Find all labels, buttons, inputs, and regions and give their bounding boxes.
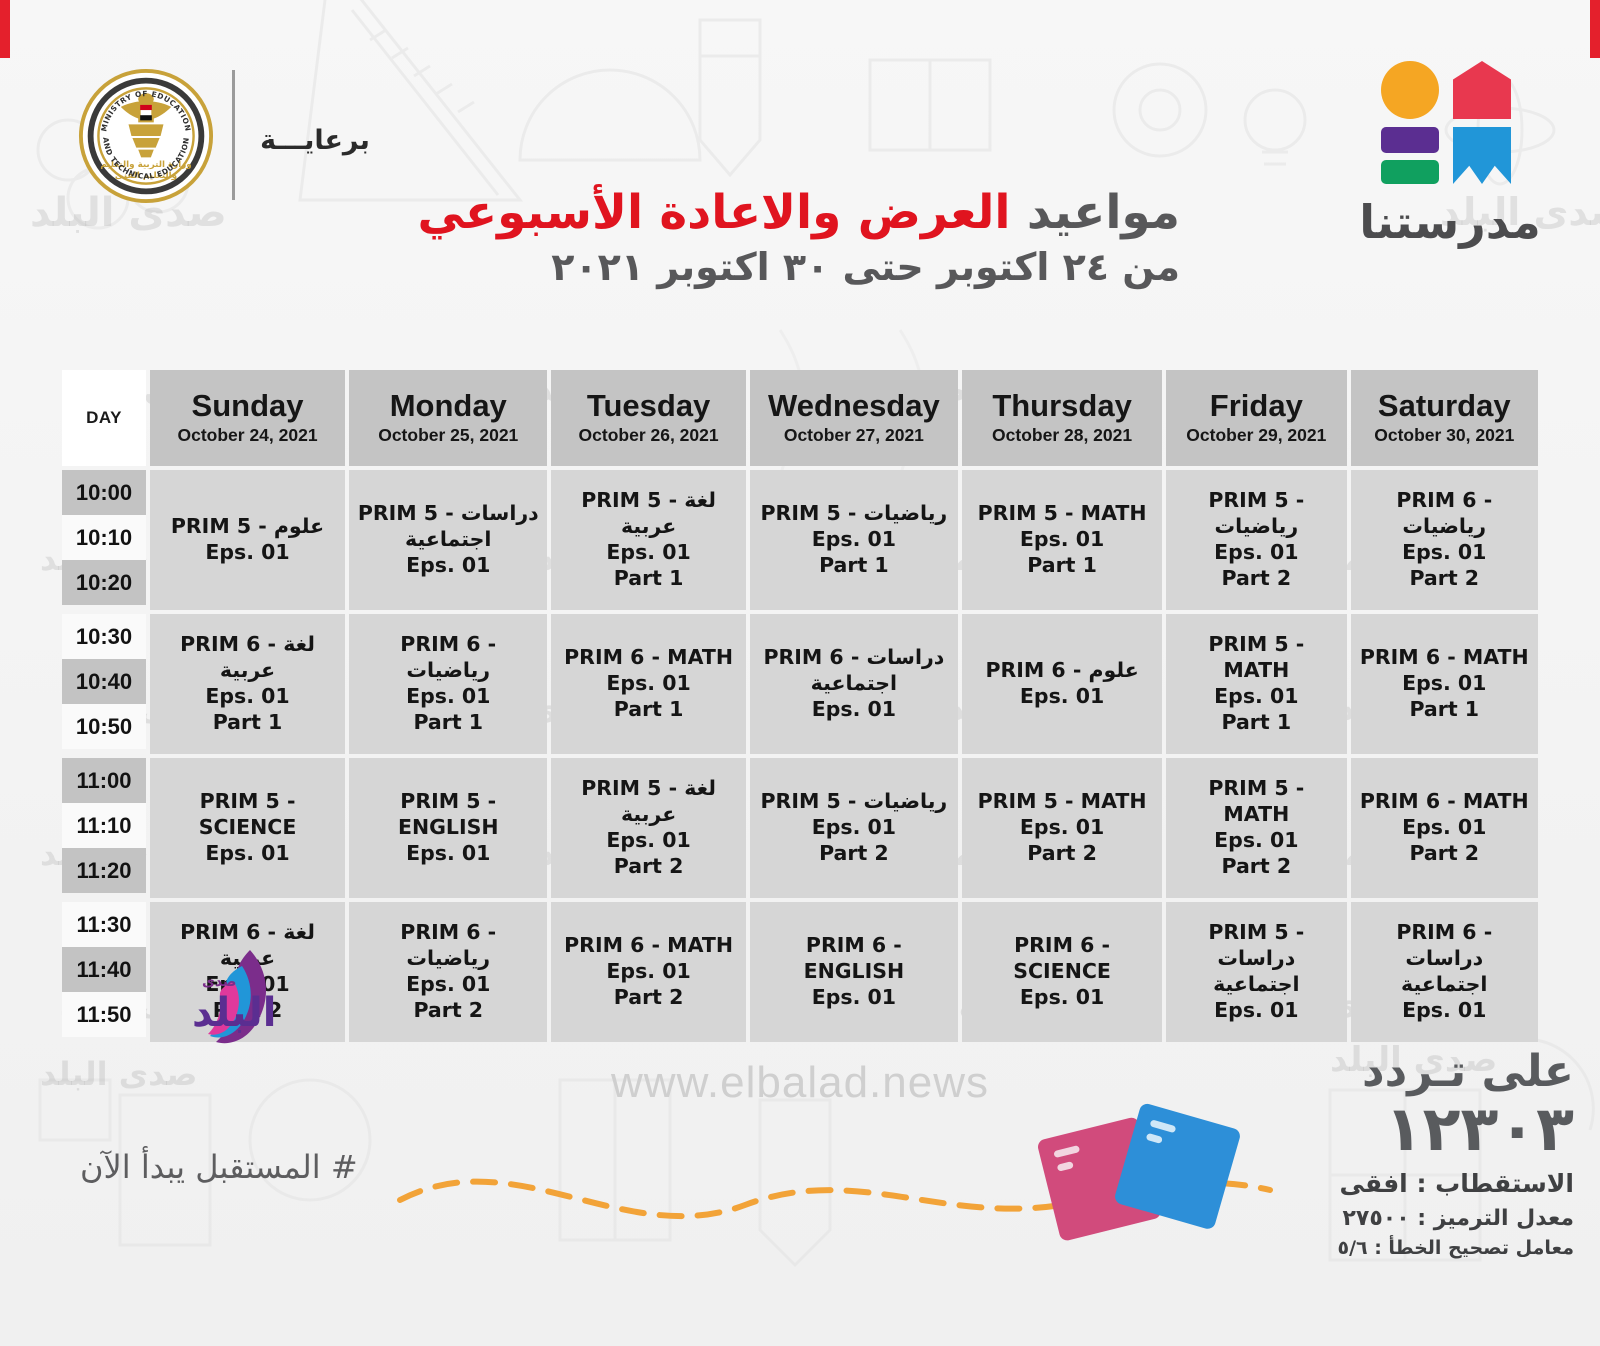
cell-line-part: Part 2 bbox=[1172, 566, 1340, 592]
cell-line-subject: PRIM 6 - MATH bbox=[1357, 645, 1532, 671]
cell-line-subject: PRIM 6 - علوم bbox=[968, 658, 1156, 684]
schedule-table-body: 10:00 10:10 10:20 PRIM 5 - علوم Eps. 01 … bbox=[62, 470, 1538, 1042]
cell-line-episode: Eps. 01 bbox=[156, 972, 339, 998]
schedule-cell[interactable]: PRIM 5 - SCIENCE Eps. 01 bbox=[150, 758, 345, 898]
cell-line-subject: PRIM 5 - ENGLISH bbox=[355, 789, 541, 841]
schedule-table-head: DAY Sunday October 24, 2021 Monday Octob… bbox=[62, 370, 1538, 466]
column-header-sunday: Sunday October 24, 2021 bbox=[150, 370, 345, 466]
frequency-fec: معامل تصحيح الخطأ : ٥/٦ bbox=[1234, 1237, 1574, 1259]
schedule-cell[interactable]: PRIM 6 - SCIENCE Eps. 01 bbox=[962, 902, 1162, 1042]
cell-line-episode: Eps. 01 bbox=[968, 527, 1156, 553]
cell-line-part: Part 2 bbox=[756, 841, 952, 867]
cell-line-episode: Eps. 01 bbox=[756, 985, 952, 1011]
cell-line-part: Part 2 bbox=[557, 985, 739, 1011]
column-day-date: October 29, 2021 bbox=[1168, 425, 1344, 446]
cell-line-subject: PRIM 6 - دراسات bbox=[756, 645, 952, 671]
cell-line-episode: اجتماعية bbox=[756, 671, 952, 697]
cell-line-part: Part 2 bbox=[1357, 841, 1532, 867]
schedule-cell[interactable]: PRIM 6 - MATH Eps. 01 Part 2 bbox=[551, 902, 745, 1042]
cell-line-episode: Eps. 01 bbox=[756, 815, 952, 841]
time-slot: 11:00 bbox=[62, 758, 146, 803]
cell-line-subject: PRIM 5 - لغة عربية bbox=[557, 776, 739, 828]
cell-line-part: Part 2 bbox=[557, 854, 739, 880]
column-day-name: Thursday bbox=[964, 390, 1160, 423]
day-header-label: DAY bbox=[62, 370, 146, 466]
cell-line-subject: PRIM 5 - دراسات bbox=[1172, 920, 1340, 972]
time-stack: 10:30 10:40 10:50 bbox=[62, 614, 146, 749]
table-row: 11:00 11:10 11:20 PRIM 5 - SCIENCE Eps. … bbox=[62, 758, 1538, 898]
cell-line-part: Eps. 01 bbox=[1357, 998, 1532, 1024]
title-block: مواعيد العرض والاعادة الأسبوعي من ٢٤ اكت… bbox=[420, 188, 1180, 289]
schedule-cell[interactable]: PRIM 5 - MATH Eps. 01 Part 1 bbox=[1166, 614, 1346, 754]
column-day-date: October 28, 2021 bbox=[964, 425, 1160, 446]
poster-header: وزارة التربية والتعليم والتعليم الفنى MI… bbox=[0, 0, 1600, 350]
cell-line-subject: PRIM 6 - MATH bbox=[557, 933, 739, 959]
cell-line-subject: PRIM 6 - لغة عربية bbox=[156, 920, 339, 972]
cell-line-episode: اجتماعية bbox=[1357, 972, 1532, 998]
column-day-date: October 30, 2021 bbox=[1353, 425, 1536, 446]
schedule-cell[interactable]: PRIM 5 - دراسات اجتماعية Eps. 01 bbox=[349, 470, 547, 610]
cell-line-subject: PRIM 6 - MATH bbox=[557, 645, 739, 671]
cell-line-episode: Eps. 01 bbox=[1357, 671, 1532, 697]
cell-line-subject: PRIM 5 - رياضيات bbox=[1172, 488, 1340, 540]
header-divider bbox=[232, 70, 235, 200]
cell-line-subject: PRIM 6 - رياضيات bbox=[355, 632, 541, 684]
cell-line-episode: Eps. 01 bbox=[156, 684, 339, 710]
time-slot: 10:00 bbox=[62, 470, 146, 515]
brand-name: مدرستنا bbox=[1325, 195, 1575, 249]
time-slot: 10:50 bbox=[62, 704, 146, 749]
schedule-cell[interactable]: PRIM 5 - MATH Eps. 01 Part 1 bbox=[962, 470, 1162, 610]
logo-green-bar-icon bbox=[1381, 160, 1439, 184]
logo-blue-book-icon bbox=[1453, 127, 1511, 184]
schedule-cell[interactable]: PRIM 5 - علوم Eps. 01 bbox=[150, 470, 345, 610]
column-day-date: October 26, 2021 bbox=[553, 425, 743, 446]
cell-line-part: Part 2 bbox=[355, 998, 541, 1024]
cell-line-episode: Eps. 01 bbox=[1172, 540, 1340, 566]
cell-line-subject: PRIM 6 - SCIENCE bbox=[968, 933, 1156, 985]
schedule-cell[interactable]: PRIM 5 - لغة عربية Eps. 01 Part 2 bbox=[551, 758, 745, 898]
logo-tiles bbox=[1367, 61, 1517, 171]
schedule-cell[interactable]: PRIM 6 - لغة عربية Eps. 01 Part 1 bbox=[150, 614, 345, 754]
column-day-name: Tuesday bbox=[553, 390, 743, 423]
column-day-date: October 27, 2021 bbox=[752, 425, 956, 446]
madrasatna-logo: مدرستنا bbox=[1325, 55, 1575, 255]
column-day-name: Friday bbox=[1168, 390, 1344, 423]
column-header-monday: Monday October 25, 2021 bbox=[349, 370, 547, 466]
column-header-wednesday: Wednesday October 27, 2021 bbox=[750, 370, 958, 466]
column-header-friday: Friday October 29, 2021 bbox=[1166, 370, 1346, 466]
frequency-symbol-rate: معدل الترميز : ٢٧٥٠٠ bbox=[1234, 1206, 1574, 1231]
cell-line-part: Part 1 bbox=[355, 710, 541, 736]
column-header-thursday: Thursday October 28, 2021 bbox=[962, 370, 1162, 466]
cell-line-episode: Eps. 01 bbox=[1357, 815, 1532, 841]
time-slot: 10:30 bbox=[62, 614, 146, 659]
cell-line-episode: Eps. 01 bbox=[156, 841, 339, 867]
schedule-cell[interactable]: PRIM 6 - رياضيات Eps. 01 Part 1 bbox=[349, 614, 547, 754]
table-header-row: DAY Sunday October 24, 2021 Monday Octob… bbox=[62, 370, 1538, 466]
cell-line-subject: PRIM 5 - رياضيات bbox=[756, 789, 952, 815]
time-column-cell: 11:00 11:10 11:20 bbox=[62, 758, 146, 898]
cell-line-part: Part 1 bbox=[968, 553, 1156, 579]
column-day-name: Saturday bbox=[1353, 390, 1536, 423]
cell-line-part: Part 2 bbox=[1172, 854, 1340, 880]
cell-line-subject: PRIM 6 - رياضيات bbox=[355, 920, 541, 972]
cell-line-part: Eps. 01 bbox=[355, 553, 541, 579]
cell-line-subject: PRIM 5 - MATH bbox=[1172, 776, 1340, 828]
schedule-cell[interactable]: PRIM 6 - دراسات اجتماعية Eps. 01 bbox=[1351, 902, 1538, 1042]
time-column-cell: 10:30 10:40 10:50 bbox=[62, 614, 146, 754]
time-column-cell: 11:30 11:40 11:50 bbox=[62, 902, 146, 1042]
cell-line-part: Part 2 bbox=[156, 998, 339, 1024]
cell-line-part: Part 2 bbox=[968, 841, 1156, 867]
cell-line-episode: Eps. 01 bbox=[557, 828, 739, 854]
schedule-cell[interactable]: PRIM 6 - MATH Eps. 01 Part 1 bbox=[551, 614, 745, 754]
hashtag-slogan: # المستقبل يبدأ الآن bbox=[80, 1148, 358, 1186]
schedule-cell[interactable]: PRIM 6 - رياضيات Eps. 01 Part 2 bbox=[1351, 470, 1538, 610]
frequency-number: ١٢٣٠٣ bbox=[1234, 1096, 1574, 1163]
cell-line-episode: Eps. 01 bbox=[557, 671, 739, 697]
cell-line-subject: PRIM 5 - SCIENCE bbox=[156, 789, 339, 841]
cell-line-episode: Eps. 01 bbox=[1172, 684, 1340, 710]
cell-line-subject: PRIM 5 - دراسات bbox=[355, 501, 541, 527]
frequency-polarization: الاستقطاب : افقى bbox=[1234, 1169, 1574, 1198]
time-slot: 10:20 bbox=[62, 560, 146, 605]
table-row: 10:00 10:10 10:20 PRIM 5 - علوم Eps. 01 … bbox=[62, 470, 1538, 610]
cell-line-subject: PRIM 5 - MATH bbox=[968, 789, 1156, 815]
books-illustration bbox=[1025, 1070, 1245, 1260]
schedule-cell[interactable]: PRIM 6 - علوم Eps. 01 bbox=[962, 614, 1162, 754]
cell-line-episode: Eps. 01 bbox=[968, 985, 1156, 1011]
cell-line-episode: اجتماعية bbox=[1172, 972, 1340, 998]
cell-line-subject: PRIM 5 - لغة عربية bbox=[557, 488, 739, 540]
column-day-name: Monday bbox=[351, 390, 545, 423]
cell-line-episode: Eps. 01 bbox=[557, 540, 739, 566]
poster-root: صدى البلد صدى البلد صدى البلد صدى البلد … bbox=[0, 0, 1600, 1346]
column-header-saturday: Saturday October 30, 2021 bbox=[1351, 370, 1538, 466]
cell-line-part: Part 1 bbox=[1357, 697, 1532, 723]
time-slot: 10:40 bbox=[62, 659, 146, 704]
time-stack: 11:00 11:10 11:20 bbox=[62, 758, 146, 893]
schedule-cell[interactable]: PRIM 6 - لغة عربية Eps. 01 Part 2 bbox=[150, 902, 345, 1042]
column-day-name: Sunday bbox=[152, 390, 343, 423]
page-title-red: العرض والاعادة الأسبوعي bbox=[417, 185, 1010, 240]
schedule-table: DAY Sunday October 24, 2021 Monday Octob… bbox=[58, 366, 1542, 1046]
cell-line-subject: PRIM 5 - علوم bbox=[156, 514, 339, 540]
column-day-name: Wednesday bbox=[752, 390, 956, 423]
cell-line-episode: اجتماعية bbox=[355, 527, 541, 553]
column-day-date: October 25, 2021 bbox=[351, 425, 545, 446]
cell-line-episode: Eps. 01 bbox=[156, 540, 339, 566]
cell-line-episode: Eps. 01 bbox=[355, 972, 541, 998]
cell-line-subject: PRIM 5 - MATH bbox=[1172, 632, 1340, 684]
frequency-label: على تـردد bbox=[1234, 1050, 1574, 1094]
schedule-cell[interactable]: PRIM 5 - دراسات اجتماعية Eps. 01 bbox=[1166, 902, 1346, 1042]
schedule-cell[interactable]: PRIM 5 - MATH Eps. 01 Part 2 bbox=[1166, 758, 1346, 898]
cell-line-part: Eps. 01 bbox=[756, 697, 952, 723]
cell-line-subject: PRIM 6 - ENGLISH bbox=[756, 933, 952, 985]
logo-house-icon bbox=[1453, 61, 1511, 119]
time-stack: 11:30 11:40 11:50 bbox=[62, 902, 146, 1037]
column-day-date: October 24, 2021 bbox=[152, 425, 343, 446]
cell-line-episode: Eps. 01 bbox=[756, 527, 952, 553]
logo-circle-icon bbox=[1381, 61, 1439, 119]
time-slot: 11:50 bbox=[62, 992, 146, 1037]
schedule-cell[interactable]: PRIM 5 - لغة عربية Eps. 01 Part 1 bbox=[551, 470, 745, 610]
page-title: مواعيد العرض والاعادة الأسبوعي bbox=[420, 188, 1180, 239]
table-row: 10:30 10:40 10:50 PRIM 6 - لغة عربية Eps… bbox=[62, 614, 1538, 754]
schedule-cell[interactable]: PRIM 6 - MATH Eps. 01 Part 2 bbox=[1351, 758, 1538, 898]
cell-line-subject: PRIM 5 - رياضيات bbox=[756, 501, 952, 527]
cell-line-part: Part 1 bbox=[156, 710, 339, 736]
table-row: 11:30 11:40 11:50 PRIM 6 - لغة عربية Eps… bbox=[62, 902, 1538, 1042]
cell-line-episode: Eps. 01 bbox=[557, 959, 739, 985]
time-slot: 11:20 bbox=[62, 848, 146, 893]
schedule-cell[interactable]: PRIM 6 - ENGLISH Eps. 01 bbox=[750, 902, 958, 1042]
time-slot: 11:30 bbox=[62, 902, 146, 947]
logo-purple-bar-icon bbox=[1381, 127, 1439, 153]
cell-line-part: Part 2 bbox=[1357, 566, 1532, 592]
schedule-cell[interactable]: PRIM 5 - رياضيات Eps. 01 Part 2 bbox=[1166, 470, 1346, 610]
ministry-emblem-icon: وزارة التربية والتعليم والتعليم الفنى MI… bbox=[78, 68, 214, 204]
cell-line-subject: PRIM 6 - لغة عربية bbox=[156, 632, 339, 684]
frequency-info: على تـردد ١٢٣٠٣ الاستقطاب : افقى معدل ال… bbox=[1234, 1050, 1574, 1259]
cell-line-part: Part 1 bbox=[1172, 710, 1340, 736]
schedule-cell[interactable]: PRIM 5 - MATH Eps. 01 Part 2 bbox=[962, 758, 1162, 898]
time-column-cell: 10:00 10:10 10:20 bbox=[62, 470, 146, 610]
cell-line-episode: Eps. 01 bbox=[355, 684, 541, 710]
time-stack: 10:00 10:10 10:20 bbox=[62, 470, 146, 605]
cell-line-subject: PRIM 6 - دراسات bbox=[1357, 920, 1532, 972]
time-slot: 11:40 bbox=[62, 947, 146, 992]
schedule-cell[interactable]: PRIM 6 - رياضيات Eps. 01 Part 2 bbox=[349, 902, 547, 1042]
cell-line-episode: Eps. 01 bbox=[968, 684, 1156, 710]
page-subtitle: من ٢٤ اكتوبر حتى ٣٠ اكتوبر ٢٠٢١ bbox=[420, 245, 1180, 289]
schedule-cell[interactable]: PRIM 5 - رياضيات Eps. 01 Part 2 bbox=[750, 758, 958, 898]
cell-line-episode: Eps. 01 bbox=[1172, 828, 1340, 854]
schedule-cell[interactable]: PRIM 5 - ENGLISH Eps. 01 bbox=[349, 758, 547, 898]
cell-line-subject: PRIM 6 - MATH bbox=[1357, 789, 1532, 815]
cell-line-episode: Eps. 01 bbox=[968, 815, 1156, 841]
time-slot: 10:10 bbox=[62, 515, 146, 560]
schedule-cell[interactable]: PRIM 6 - MATH Eps. 01 Part 1 bbox=[1351, 614, 1538, 754]
schedule-cell[interactable]: PRIM 6 - دراسات اجتماعية Eps. 01 bbox=[750, 614, 958, 754]
time-slot: 11:10 bbox=[62, 803, 146, 848]
sponsor-label: برعايـــة bbox=[250, 125, 380, 156]
cell-line-part: Part 1 bbox=[557, 697, 739, 723]
page-title-gray: مواعيد bbox=[1027, 185, 1180, 240]
cell-line-part: Part 1 bbox=[557, 566, 739, 592]
cell-line-episode: Eps. 01 bbox=[1357, 540, 1532, 566]
schedule-cell[interactable]: PRIM 5 - رياضيات Eps. 01 Part 1 bbox=[750, 470, 958, 610]
cell-line-part: Eps. 01 bbox=[1172, 998, 1340, 1024]
cell-line-subject: PRIM 5 - MATH bbox=[968, 501, 1156, 527]
cell-line-episode: Eps. 01 bbox=[355, 841, 541, 867]
cell-line-part: Part 1 bbox=[756, 553, 952, 579]
cell-line-subject: PRIM 6 - رياضيات bbox=[1357, 488, 1532, 540]
column-header-tuesday: Tuesday October 26, 2021 bbox=[551, 370, 745, 466]
